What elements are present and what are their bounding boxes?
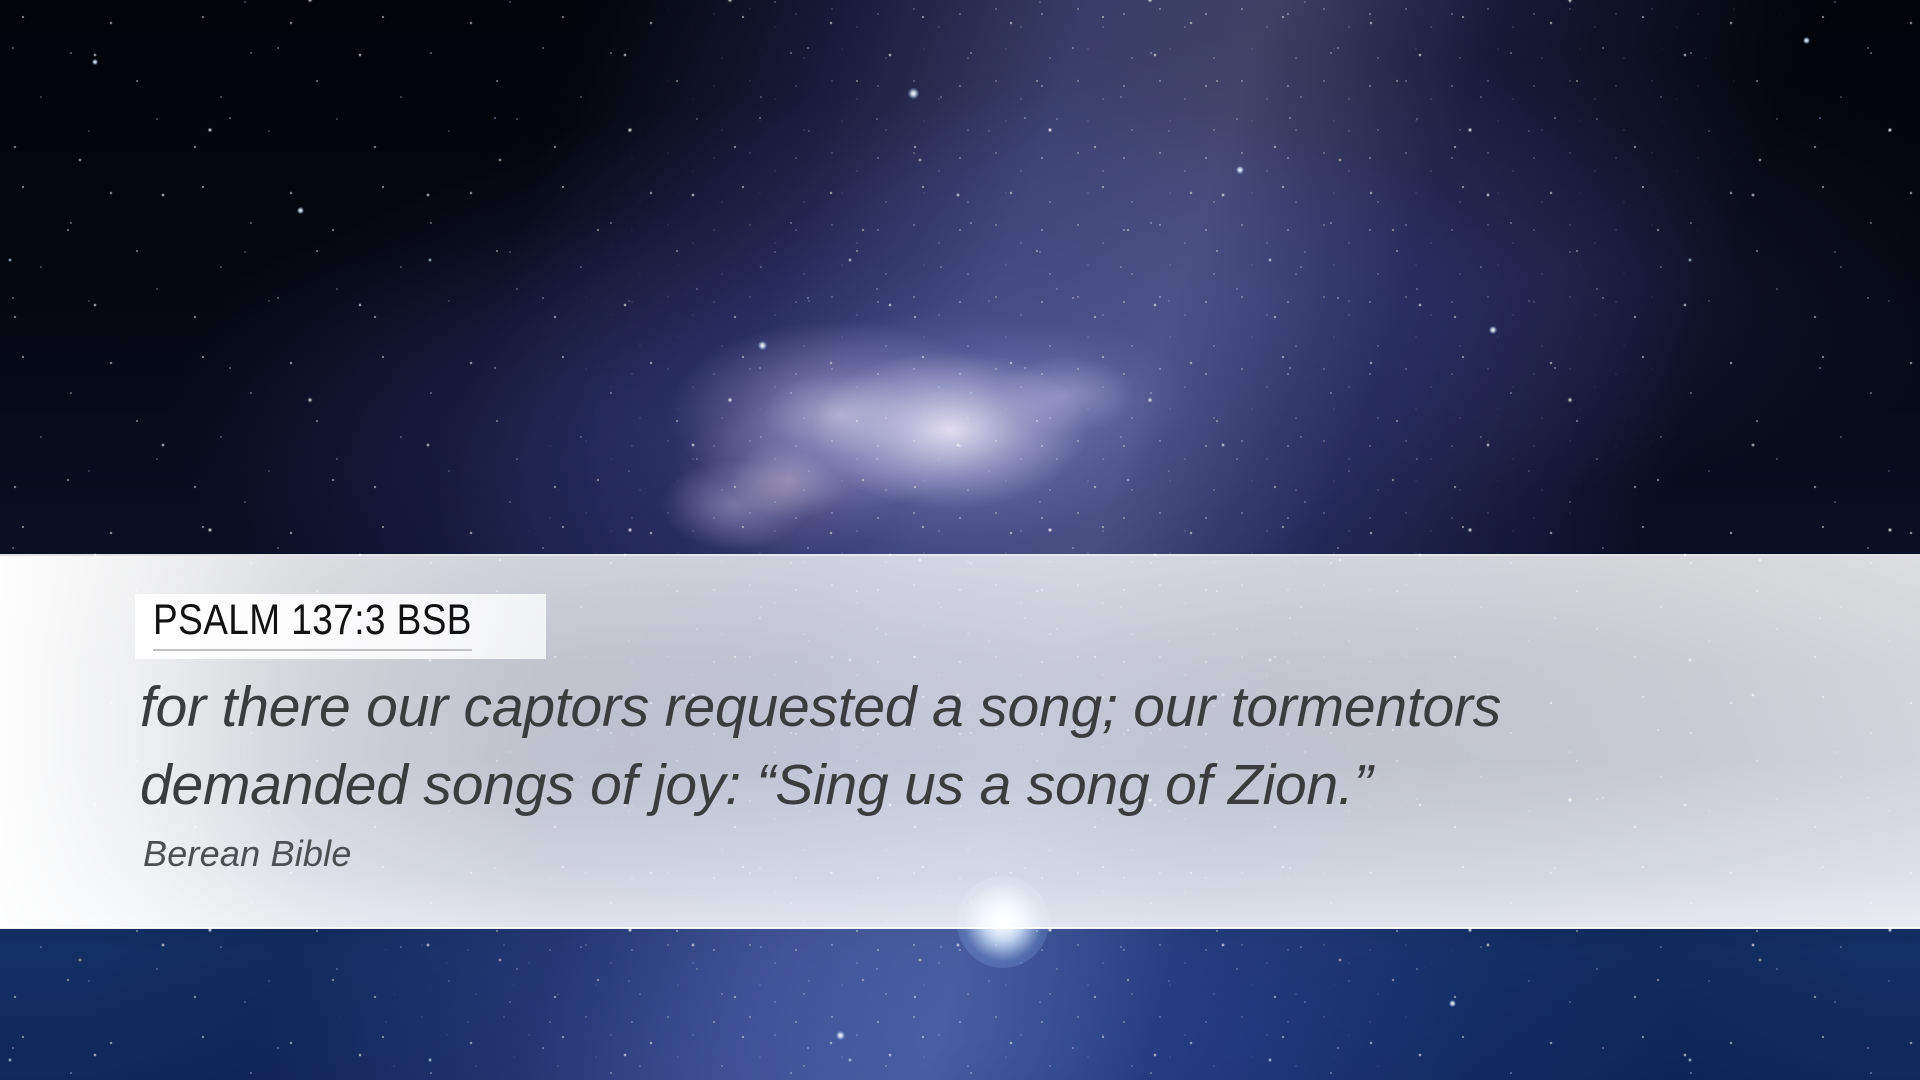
- reference-box: PSALM 137:3 BSB: [135, 594, 546, 659]
- verse-attribution: Berean Bible: [143, 834, 352, 874]
- verse-text: for there our captors requested a song; …: [140, 668, 1840, 824]
- verse-card-canvas: PSALM 137:3 BSB for there our captors re…: [0, 0, 1920, 1080]
- verse-reference: PSALM 137:3 BSB: [153, 598, 472, 651]
- verse-content: PSALM 137:3 BSB for there our captors re…: [0, 556, 1920, 928]
